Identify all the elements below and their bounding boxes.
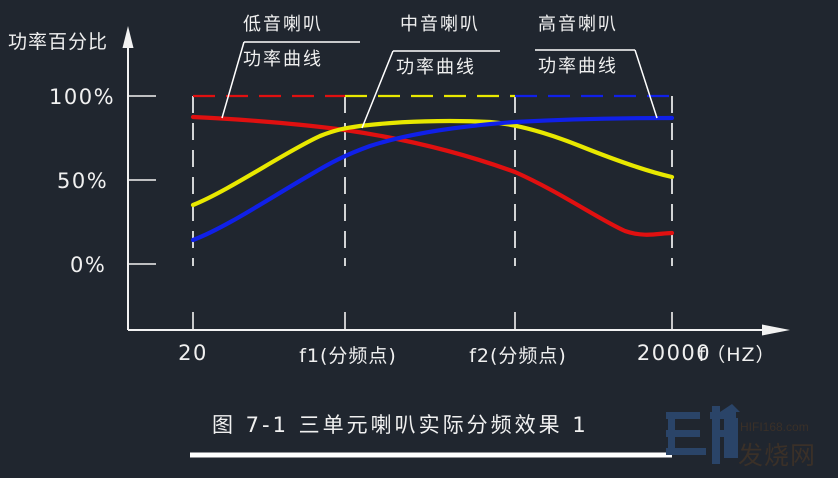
annotation-tweeter: 高音喇叭 功率曲线 (535, 14, 657, 118)
curve-midrange (193, 121, 672, 205)
y-axis-title: 功率百分比 (8, 31, 108, 53)
annotation-woofer-line2: 功率曲线 (243, 49, 323, 70)
y-axis-arrowhead (123, 26, 134, 48)
curve-woofer (193, 117, 672, 235)
annotation-woofer-line1: 低音喇叭 (243, 14, 323, 35)
speaker-crossover-chart: 低音喇叭 功率曲线 中音喇叭 功率曲线 高音喇叭 功率曲线 功率百分比 100%… (0, 0, 838, 476)
annotation-woofer-leader (222, 42, 244, 118)
annotation-woofer: 低音喇叭 功率曲线 (222, 14, 360, 118)
x-tick-label-20: 20 (178, 341, 208, 365)
annotation-midrange: 中音喇叭 功率曲线 (362, 14, 500, 128)
annotation-tweeter-line2: 功率曲线 (538, 56, 618, 77)
y-tick-label-0: 0% (70, 253, 106, 277)
x-tick-label-f1: f1(分频点) (299, 345, 397, 367)
x-axis-title: f（HZ） (699, 344, 776, 366)
figure-canvas: 低音喇叭 功率曲线 中音喇叭 功率曲线 高音喇叭 功率曲线 功率百分比 100%… (0, 0, 838, 476)
x-axis-arrowhead (762, 325, 790, 336)
annotation-midrange-leader (362, 51, 393, 128)
y-tick-label-50: 50% (57, 169, 108, 193)
y-tick-marks (128, 96, 156, 264)
curve-tweeter (193, 118, 672, 240)
annotation-midrange-line2: 功率曲线 (396, 57, 476, 78)
figure-caption: 图 7-1 三单元喇叭实际分频效果 1 (212, 413, 589, 437)
x-tick-label-f2: f2(分频点) (469, 345, 567, 367)
y-tick-label-100: 100% (49, 85, 115, 109)
annotation-tweeter-line1: 高音喇叭 (538, 14, 618, 35)
annotation-midrange-line1: 中音喇叭 (400, 14, 480, 35)
annotation-tweeter-leader (635, 50, 657, 118)
x-tick-marks (193, 312, 672, 330)
